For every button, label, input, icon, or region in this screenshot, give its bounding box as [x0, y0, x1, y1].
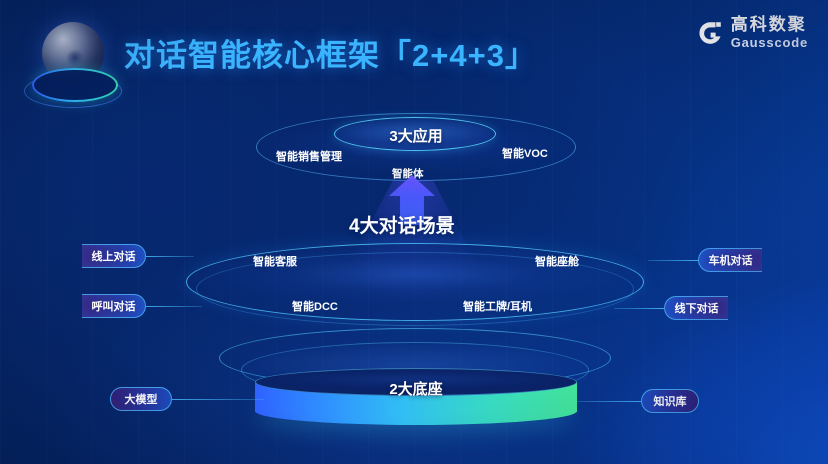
brand-name-cn: 高科数聚: [731, 16, 808, 33]
foundations-cylinder: 2大底座: [255, 370, 577, 424]
brand-name-en: Gausscode: [731, 36, 808, 49]
foundation-tag-knowledge-base[interactable]: 知识库: [641, 389, 699, 413]
foundation-tag-large-model[interactable]: 大模型: [110, 387, 172, 411]
brand-logo-text: 高科数聚 Gausscode: [731, 16, 808, 49]
applications-title: 3大应用: [335, 118, 497, 152]
scenario-item-smart-cabin: 智能座舱: [535, 253, 579, 269]
application-item-agent: 智能体: [392, 166, 424, 181]
connector-car-dialog: [648, 260, 698, 261]
gausscode-logo-icon: [697, 20, 723, 46]
scenario-item-badge-headset: 智能工牌/耳机: [463, 298, 532, 314]
sphere-icon: [24, 14, 120, 110]
slide-canvas: 对话智能核心框架「2+4+3」 高科数聚 Gausscode 3大应用 智能销售…: [0, 0, 828, 464]
scenarios-title: 4大对话场景: [349, 211, 455, 238]
scenario-item-customer-service: 智能客服: [253, 253, 297, 269]
scenario-item-dcc: 智能DCC: [292, 298, 338, 314]
side-tag-offline-dialog[interactable]: 线下对话: [664, 296, 728, 320]
foundations-title: 2大底座: [255, 378, 577, 399]
connector-knowledge-base: [577, 401, 641, 402]
sphere-gradient-ring-icon: [32, 68, 118, 102]
connector-large-model: [172, 399, 264, 400]
connector-online-dialog: [146, 256, 194, 257]
brand-logo: 高科数聚 Gausscode: [697, 16, 808, 49]
side-tag-car-dialog[interactable]: 车机对话: [698, 248, 762, 272]
application-item-sales: 智能销售管理: [276, 148, 342, 164]
connector-offline-dialog: [614, 308, 664, 309]
connector-call-dialog: [146, 306, 202, 307]
side-tag-call-dialog[interactable]: 呼叫对话: [82, 294, 146, 318]
side-tag-online-dialog[interactable]: 线上对话: [82, 244, 146, 268]
application-item-voc: 智能VOC: [502, 145, 548, 161]
page-title: 对话智能核心框架「2+4+3」: [124, 30, 537, 75]
applications-inner-ellipse: 3大应用: [334, 117, 496, 151]
